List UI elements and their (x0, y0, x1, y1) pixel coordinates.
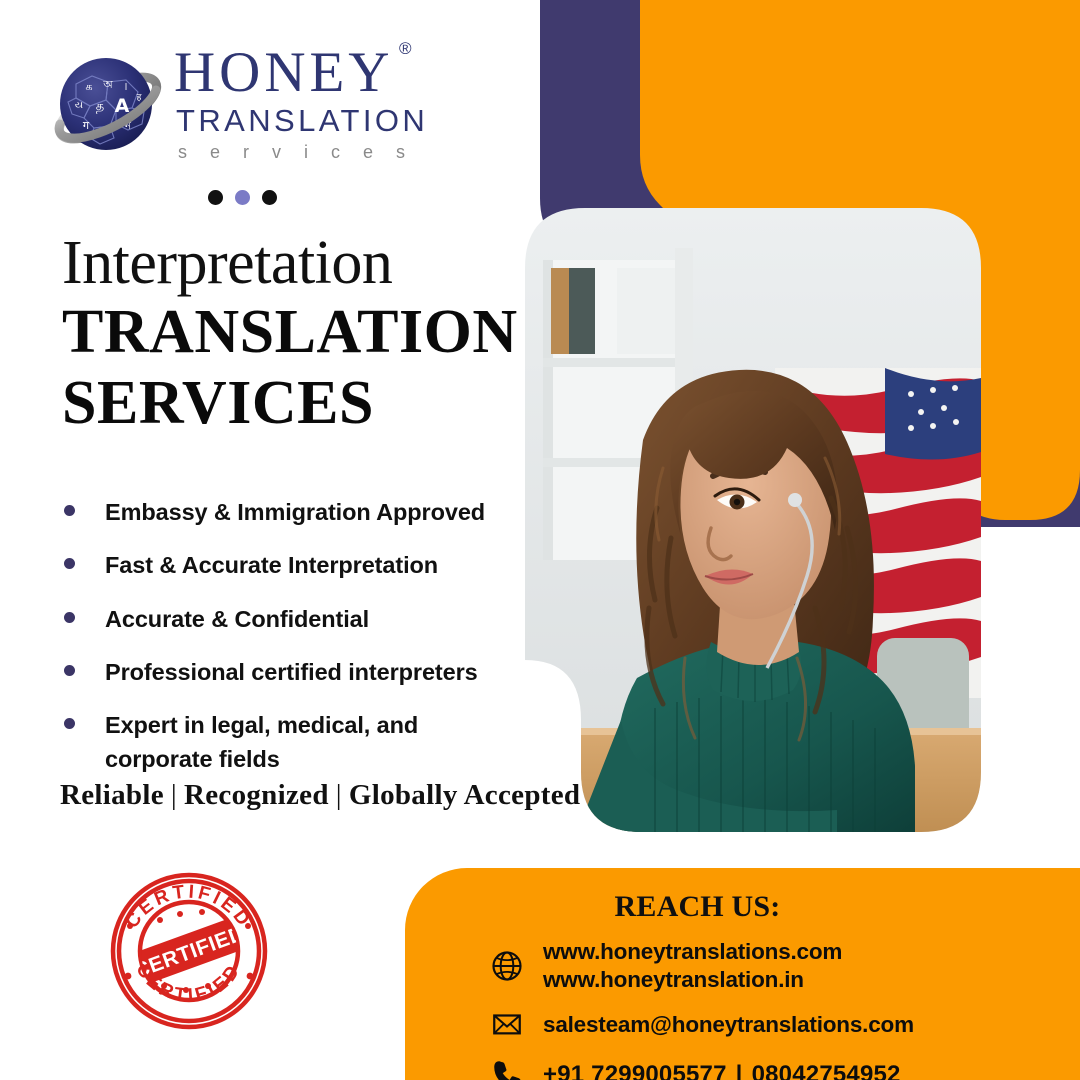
poster-canvas: க অ ا ય த A ह ग ಕ ন HONEY® TRANSLATION s… (0, 0, 1080, 1080)
headline-bold-line-1: TRANSLATION (62, 299, 532, 365)
phone-icon (487, 1054, 527, 1080)
svg-text:ય: ય (75, 100, 83, 111)
globe-icon (487, 946, 527, 986)
list-item: Expert in legal, medical, and corporate … (58, 709, 538, 776)
bullet-dot-icon (64, 665, 75, 676)
svg-text:ह: ह (137, 93, 142, 103)
svg-text:ا: ا (125, 83, 128, 93)
bullet-dot-icon (64, 612, 75, 623)
headline-block: Interpretation TRANSLATION SERVICES (62, 232, 532, 436)
logo-wordmark: HONEY® TRANSLATION s e r v i c e s (174, 44, 474, 161)
list-item: Accurate & Confidential (58, 603, 538, 636)
tagline: Reliable|Recognized|Globally Accepted (60, 779, 580, 812)
certified-stamp-icon: CERTIFIED CERTIFIED CERTIFIED (106, 868, 271, 1033)
bullet-dot-icon (64, 718, 75, 729)
tagline-part-1: Reliable (60, 779, 164, 811)
list-item-label: Expert in legal, medical, and corporate … (105, 709, 450, 776)
headline-script-line: Interpretation (62, 232, 532, 295)
list-item-label: Professional certified interpreters (105, 656, 478, 689)
svg-text:க: க (85, 80, 92, 93)
tagline-part-2: Recognized (184, 779, 329, 811)
registered-mark-icon: ® (399, 40, 416, 57)
dot-2 (235, 190, 250, 205)
feature-list: Embassy & Immigration Approved Fast & Ac… (58, 496, 538, 796)
envelope-icon (487, 1004, 527, 1044)
website-list[interactable]: www.honeytranslations.com www.honeytrans… (543, 938, 842, 993)
website-1[interactable]: www.honeytranslations.com (543, 938, 842, 966)
globe-languages-icon: க অ ا ય த A ह ग ಕ ন (52, 50, 164, 162)
website-2[interactable]: www.honeytranslation.in (543, 966, 842, 994)
phone-primary[interactable]: +91 7299005577 (543, 1061, 727, 1080)
logo-honey-text: HONEY® (174, 44, 393, 101)
svg-text:অ: অ (102, 78, 113, 91)
bullet-dot-icon (64, 558, 75, 569)
tagline-separator: | (329, 779, 349, 811)
hero-photo (525, 208, 981, 832)
contact-card: REACH US: www.honeytranslations.com www.… (405, 868, 1080, 1080)
logo-translation-text: TRANSLATION (176, 105, 474, 136)
list-item: Fast & Accurate Interpretation (58, 549, 538, 582)
phone-numbers[interactable]: +91 7299005577|08042754952 (543, 1060, 901, 1080)
brand-logo[interactable]: க অ ا ય த A ह ग ಕ ন HONEY® TRANSLATION s… (52, 44, 472, 174)
interpreter-photo (525, 208, 981, 832)
headline-bold-line-2: SERVICES (62, 370, 532, 436)
list-item-label: Embassy & Immigration Approved (105, 496, 485, 529)
orange-top-strip (640, 0, 1080, 30)
list-item: Embassy & Immigration Approved (58, 496, 538, 529)
list-item: Professional certified interpreters (58, 656, 538, 689)
phone-separator: | (727, 1061, 752, 1080)
list-item-label: Fast & Accurate Interpretation (105, 549, 438, 582)
dot-3 (262, 190, 277, 205)
contact-row-phone[interactable]: +91 7299005577|08042754952 (487, 1054, 1080, 1080)
list-item-label: Accurate & Confidential (105, 603, 369, 636)
phone-secondary[interactable]: 08042754952 (752, 1061, 901, 1080)
svg-text:த: த (96, 99, 104, 114)
contact-row-email[interactable]: salesteam@honeytranslations.com (487, 1004, 1080, 1044)
dot-1 (208, 190, 223, 205)
logo-services-text: s e r v i c e s (178, 143, 474, 161)
email-address[interactable]: salesteam@honeytranslations.com (543, 1011, 914, 1039)
contact-row-website[interactable]: www.honeytranslations.com www.honeytrans… (487, 938, 1080, 993)
decorative-dots (208, 190, 277, 205)
bullet-dot-icon (64, 505, 75, 516)
reach-us-title: REACH US: (405, 890, 1080, 924)
tagline-separator: | (164, 779, 184, 811)
svg-text:ग: ग (83, 119, 90, 132)
